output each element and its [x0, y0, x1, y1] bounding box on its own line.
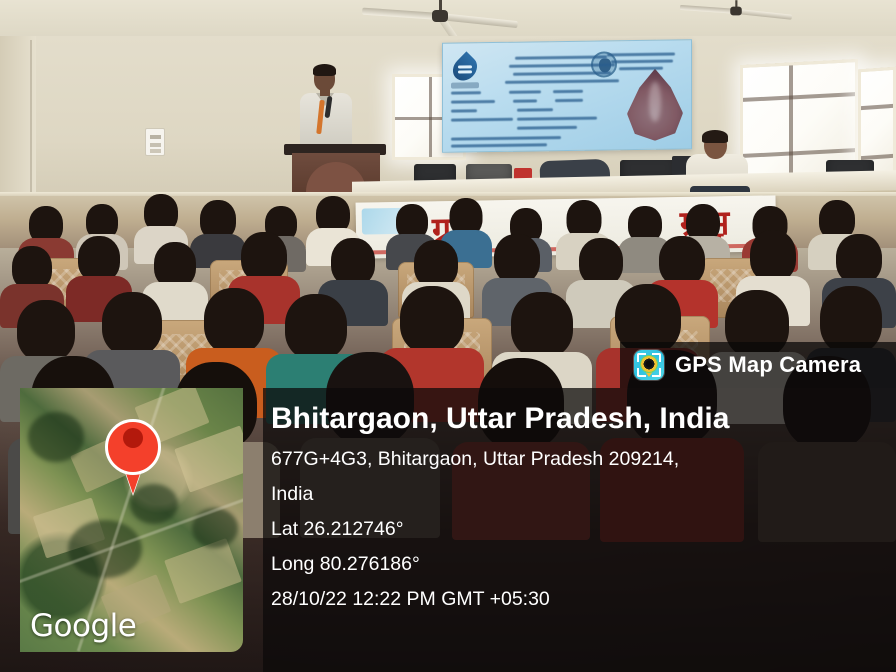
map-thumbnail[interactable]: Google: [20, 388, 243, 652]
gps-location-info: Bhitargaon, Uttar Pradesh, India 677G+4G…: [271, 400, 879, 617]
map-field: [164, 538, 242, 604]
ceiling-fan: [360, 8, 520, 24]
banner-text-line: [451, 91, 481, 94]
person-head: [579, 238, 623, 286]
person-head: [331, 238, 375, 286]
banner-text-line: [517, 117, 597, 121]
location-longitude: Long 80.276186°: [271, 547, 879, 582]
person-head: [241, 232, 287, 282]
fan-hub: [730, 7, 742, 16]
google-watermark: Google: [30, 608, 136, 644]
banner-text-line: [555, 99, 583, 102]
person-head: [285, 294, 347, 360]
banner-text-line: [451, 143, 547, 147]
location-address-line-1: 677G+4G3, Bhitargaon, Uttar Pradesh 2092…: [271, 442, 879, 477]
map-pin-icon: [105, 419, 161, 495]
water-drop-logo-icon: [451, 55, 479, 89]
seated-official-hair: [702, 130, 728, 143]
banner-text-line: [451, 118, 513, 122]
wall-corner-line: [30, 40, 32, 210]
banner-text-line: [505, 79, 619, 84]
banner-text-line: [513, 99, 537, 102]
icon-camera-lens: [640, 355, 658, 373]
person-head: [659, 236, 705, 286]
map-vegetation: [28, 412, 84, 462]
location-address-line-2: India: [271, 477, 879, 512]
banner-text-line: [451, 100, 495, 104]
fan-blade: [362, 7, 440, 19]
gps-map-camera-icon: [634, 350, 664, 380]
fan-hub: [432, 10, 448, 22]
banner-text-line: [607, 52, 675, 55]
wall-switch-box: [145, 128, 165, 156]
location-latitude: Lat 26.212746°: [271, 512, 879, 547]
window-mullion: [789, 65, 793, 179]
water-drop-graphic: [627, 68, 683, 141]
banner-text-line: [517, 108, 553, 112]
banner-text-line: [611, 60, 673, 63]
person-head: [750, 230, 796, 282]
banner-text-line: [619, 67, 663, 70]
person-head: [400, 286, 464, 354]
map-field: [174, 425, 243, 492]
window-transom: [743, 92, 855, 102]
window-transom: [743, 148, 855, 158]
banner-text-line: [553, 90, 583, 93]
speaker-hair: [313, 64, 336, 76]
gps-map-camera-photo: ग्राम ग्राम प्र. जल जीवन: [0, 0, 896, 672]
gps-map-camera-watermark: GPS Map Camera: [620, 342, 896, 388]
person-head: [511, 292, 573, 358]
banner-text-line: [517, 126, 577, 130]
location-title: Bhitargaon, Uttar Pradesh, India: [271, 400, 879, 438]
person-head: [836, 234, 882, 284]
banner-text-line: [451, 136, 561, 141]
banner-text-line: [451, 109, 477, 112]
banner-text-line: [509, 90, 541, 93]
person-head: [102, 292, 162, 356]
person-head: [414, 240, 458, 288]
ceiling-fan: [693, 6, 779, 16]
person-head: [494, 234, 540, 284]
gps-app-name: GPS Map Camera: [675, 352, 861, 378]
blue-event-banner: [442, 39, 692, 152]
person-head: [17, 300, 75, 362]
map-pin-hole: [123, 428, 143, 448]
location-timestamp: 28/10/22 12:22 PM GMT +05:30: [271, 582, 879, 617]
person-head: [204, 288, 264, 354]
window-transom: [861, 104, 893, 110]
